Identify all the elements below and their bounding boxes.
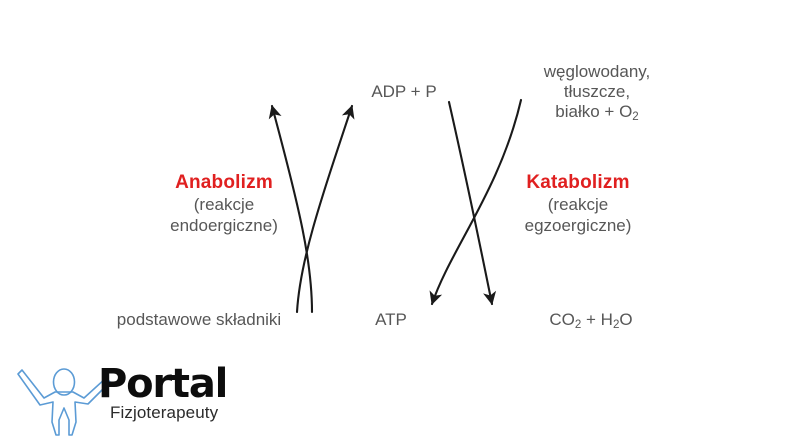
node-basic-components: podstawowe składniki: [117, 310, 281, 330]
curve-catabolism-left-down: [449, 102, 492, 304]
curve-catabolism-right-down: [432, 100, 521, 304]
co2-subscript: 2: [575, 319, 581, 331]
logo-wordmark: Portal: [98, 364, 227, 404]
catabolism-title: Katabolizm: [525, 172, 632, 193]
logo-subtitle: Fizjoterapeuty: [110, 404, 218, 422]
process-label-anabolism: Anabolizm (reakcje endoergiczne): [170, 172, 278, 236]
process-label-catabolism: Katabolizm (reakcje egzoergiczne): [525, 172, 632, 236]
substrates-line-2: tłuszcze,: [544, 82, 650, 102]
curve-anabolism-left-up: [272, 106, 312, 312]
h2o-oxygen-text: O: [619, 310, 632, 329]
curve-anabolism-right-up: [297, 106, 352, 312]
node-co2-h2o: CO2 + H2O: [549, 310, 632, 332]
substrates-protein-o2-text: białko + O: [555, 102, 632, 121]
catabolism-subtitle-line-2: egzoergiczne): [525, 215, 632, 236]
anabolism-subtitle-line-1: (reakcje: [170, 194, 278, 215]
h2o-subscript: 2: [613, 319, 619, 331]
substrates-line-1: węglowodany,: [544, 62, 650, 82]
plus-h-text: + H: [581, 310, 613, 329]
substrates-o2-subscript: 2: [632, 111, 638, 123]
catabolism-subtitle-line-1: (reakcje: [525, 194, 632, 215]
substrates-line-3: białko + O2: [544, 102, 650, 124]
anabolism-title: Anabolizm: [170, 172, 278, 193]
co2-text: CO: [549, 310, 575, 329]
node-adp-p: ADP + P: [371, 82, 436, 102]
node-atp: ATP: [375, 310, 407, 330]
diagram-canvas: ADP + P węglowodany, tłuszcze, białko + …: [0, 0, 800, 444]
anabolism-subtitle-line-2: endoergiczne): [170, 215, 278, 236]
node-substrates: węglowodany, tłuszcze, białko + O2: [544, 62, 650, 124]
